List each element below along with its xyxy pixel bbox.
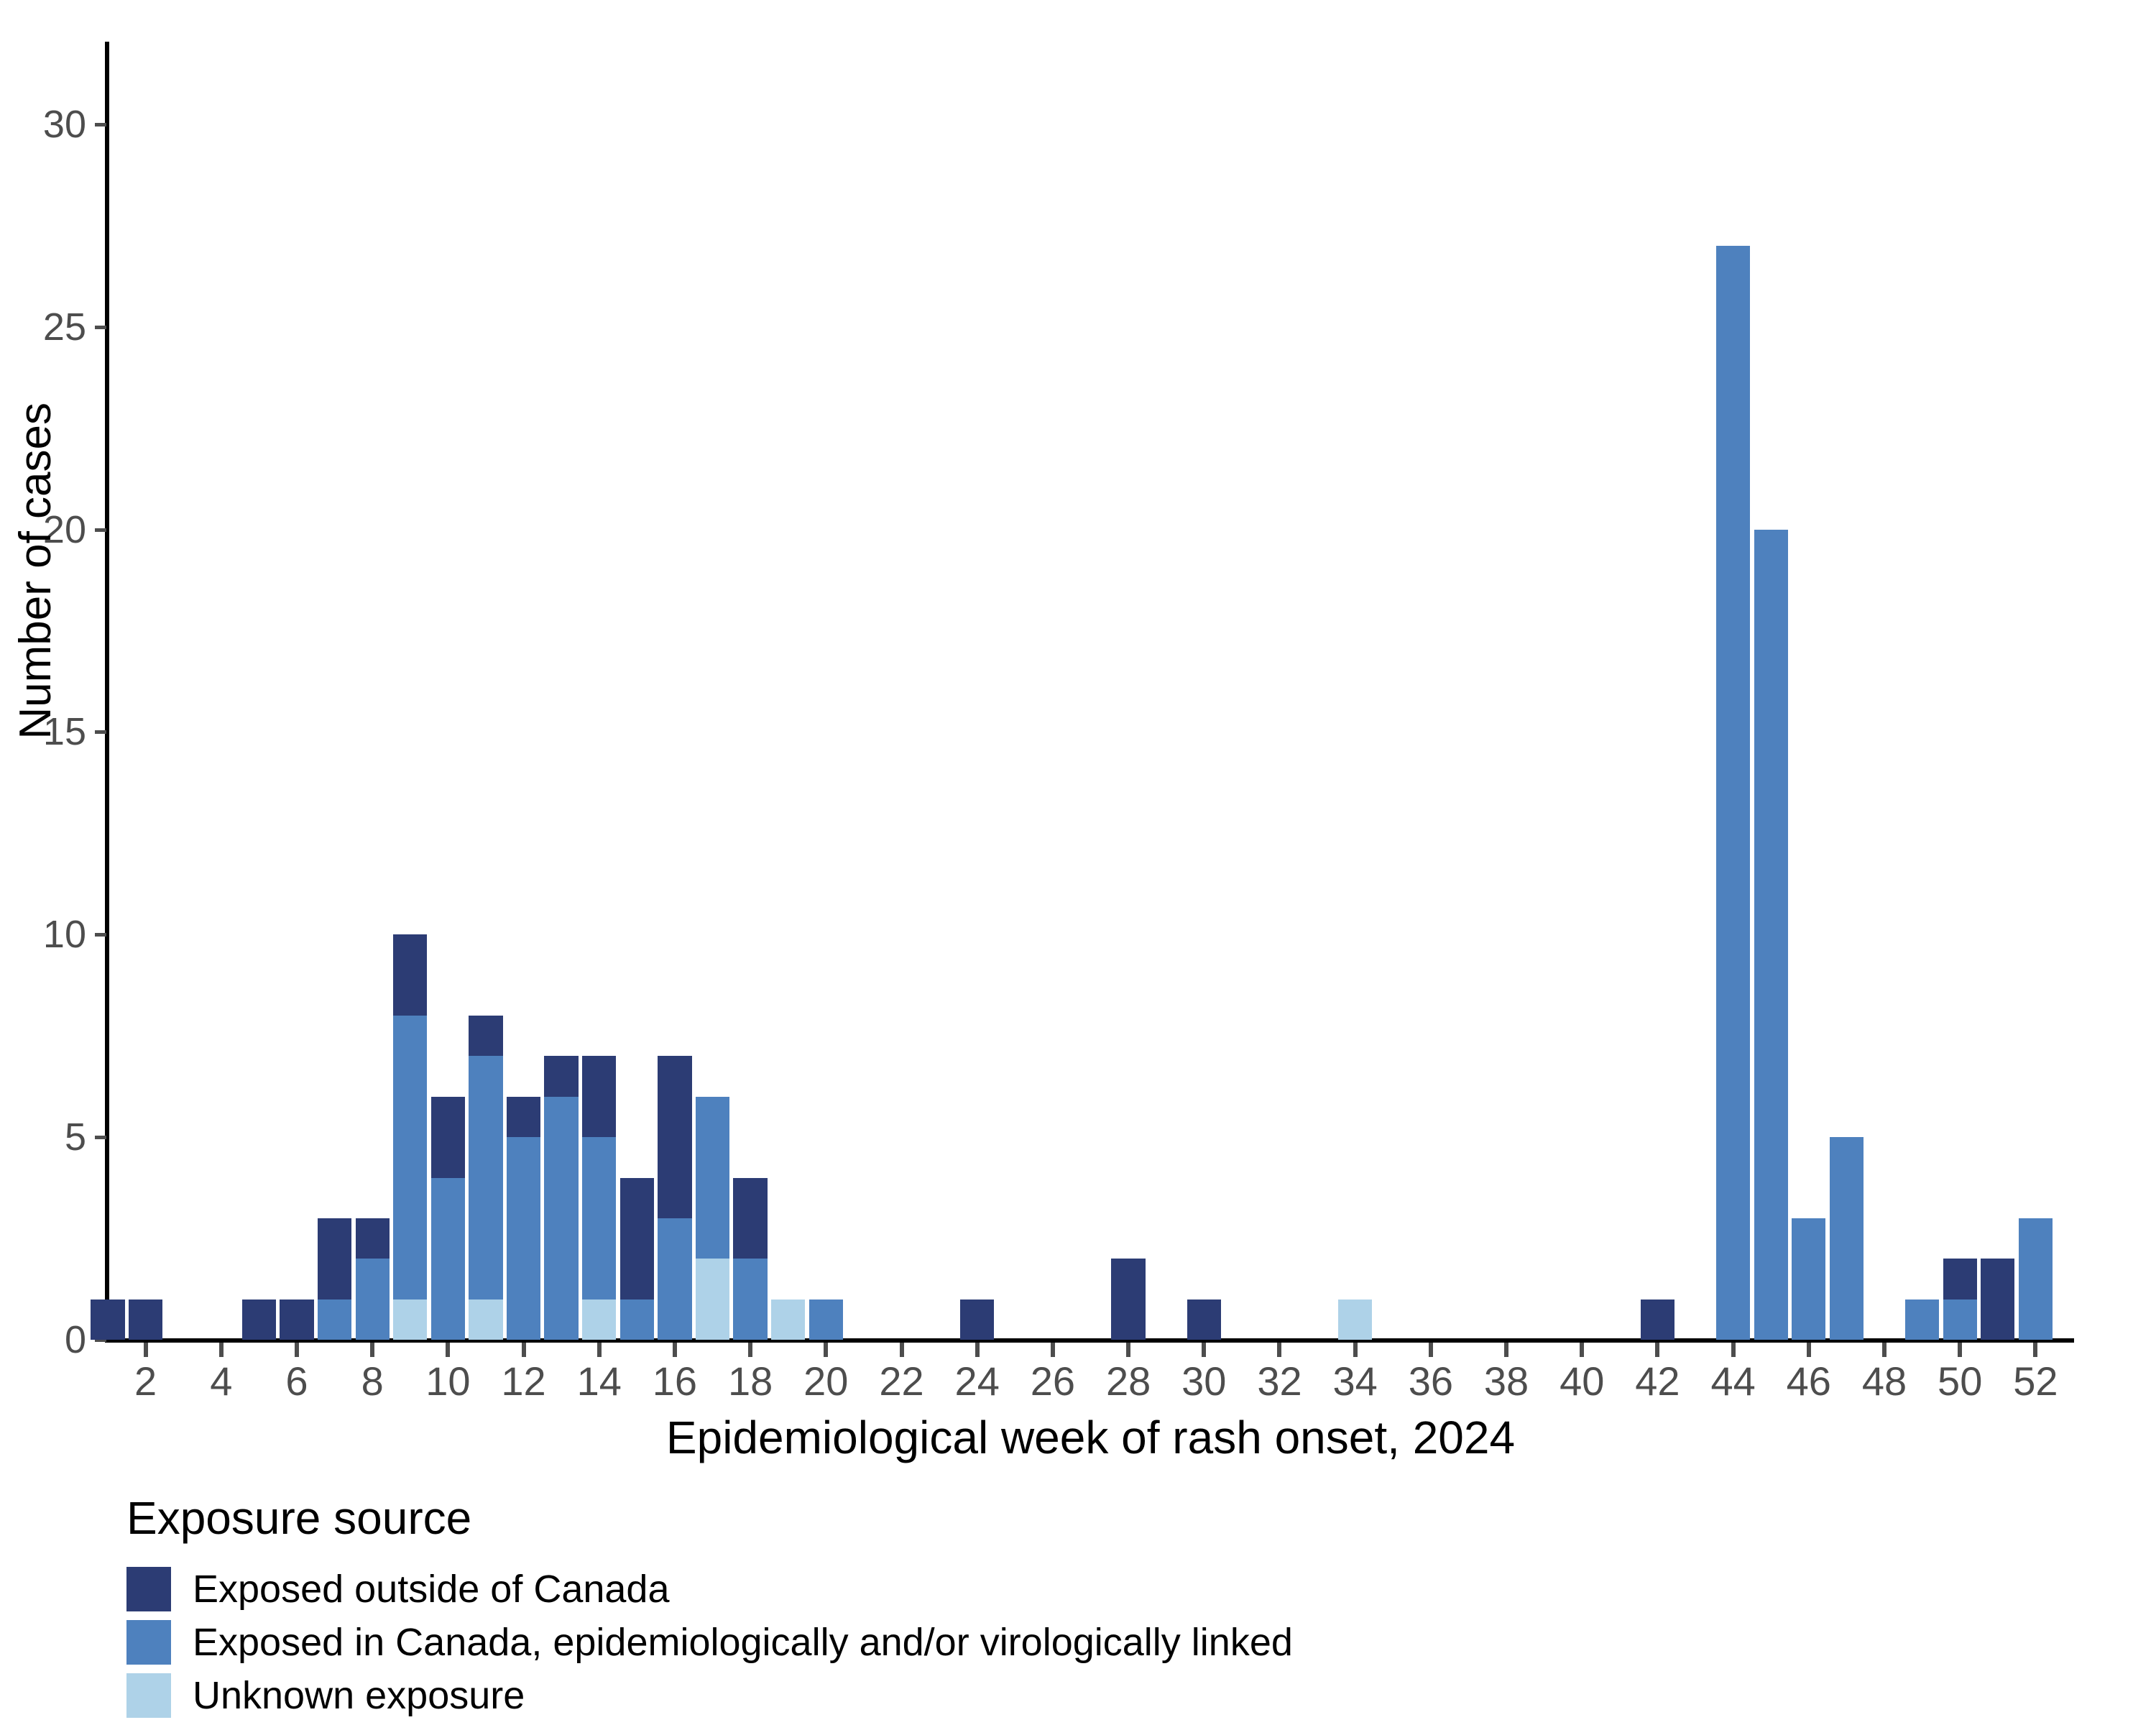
bar-segment: [280, 1299, 313, 1340]
x-tick-mark: [900, 1343, 904, 1357]
legend-item: Exposed outside of Canada: [126, 1563, 1851, 1616]
legend-color-swatch: [126, 1567, 171, 1611]
x-tick-mark: [1353, 1343, 1358, 1357]
bar-segment: [393, 1016, 427, 1299]
bar-segment: [1641, 1299, 1674, 1340]
legend-color-swatch: [126, 1673, 171, 1718]
bar-segment: [393, 1299, 427, 1340]
bar-segment: [809, 1299, 843, 1340]
x-tick-mark: [1958, 1343, 1962, 1357]
x-tick-mark: [975, 1343, 980, 1357]
bar-week-30: [1187, 1299, 1221, 1340]
x-tick-mark: [597, 1343, 602, 1357]
x-tick-mark: [522, 1343, 526, 1357]
bar-segment: [129, 1299, 162, 1340]
x-tick-mark: [144, 1343, 148, 1357]
bar-week-13: [544, 1056, 578, 1340]
bar-segment: [1716, 246, 1750, 1340]
bar-segment: [431, 1097, 465, 1178]
bar-segment: [1792, 1218, 1825, 1340]
bar-segment: [582, 1137, 616, 1299]
bar-segment: [507, 1097, 540, 1137]
bar-week-18: [733, 1178, 767, 1340]
x-tick-mark: [1429, 1343, 1433, 1357]
x-tick-mark: [673, 1343, 677, 1357]
legend-color-swatch: [126, 1620, 171, 1665]
legend: Exposure source Exposed outside of Canad…: [126, 1495, 1851, 1722]
bar-segment: [469, 1016, 502, 1056]
x-tick-mark: [1051, 1343, 1055, 1357]
bar-week-19: [771, 1299, 805, 1340]
legend-item: Unknown exposure: [126, 1669, 1851, 1722]
bar-segment: [658, 1218, 691, 1340]
bar-segment: [1338, 1299, 1372, 1340]
x-axis-title: Epidemiological week of rash onset, 2024: [108, 1414, 2073, 1460]
x-tick-mark: [446, 1343, 450, 1357]
bar-week-45: [1754, 530, 1788, 1340]
x-tick-mark: [370, 1343, 374, 1357]
bar-week-28: [1111, 1259, 1145, 1340]
x-tick-mark: [1580, 1343, 1584, 1357]
x-tick-mark: [824, 1343, 828, 1357]
bar-segment: [582, 1299, 616, 1340]
bar-segment: [91, 1299, 124, 1340]
bar-segment: [1943, 1259, 1977, 1299]
bar-segment: [356, 1259, 390, 1340]
bar-week-16: [658, 1056, 691, 1340]
bar-segment: [1981, 1259, 2014, 1340]
bar-week-6: [280, 1299, 313, 1340]
bar-week-20: [809, 1299, 843, 1340]
bar-segment: [620, 1299, 654, 1340]
legend-item-label: Exposed outside of Canada: [193, 1570, 669, 1609]
bar-week-51: [1981, 1259, 2014, 1340]
bar-segment: [1187, 1299, 1221, 1340]
bar-segment: [1830, 1137, 1864, 1340]
x-tick-mark: [1807, 1343, 1811, 1357]
bar-segment: [431, 1178, 465, 1340]
bar-week-17: [696, 1097, 729, 1340]
bar-week-50: [1943, 1259, 1977, 1340]
bar-segment: [2019, 1218, 2053, 1340]
y-axis-title: Number of cases: [14, 402, 58, 740]
bar-week-7: [318, 1218, 351, 1340]
x-tick-mark: [295, 1343, 299, 1357]
bar-week-11: [469, 1016, 502, 1340]
bar-week-46: [1792, 1218, 1825, 1340]
legend-item-label: Exposed in Canada, epidemiologically and…: [193, 1623, 1293, 1662]
legend-title: Exposure source: [126, 1495, 1851, 1541]
bar-segment: [960, 1299, 994, 1340]
bar-week-52: [2019, 1218, 2053, 1340]
bar-week-24: [960, 1299, 994, 1340]
x-tick-mark: [219, 1343, 224, 1357]
bar-segment: [356, 1218, 390, 1259]
bar-week-12: [507, 1097, 540, 1340]
bar-week-10: [431, 1097, 465, 1340]
bar-segment: [242, 1299, 276, 1340]
bar-segment: [544, 1097, 578, 1340]
bar-week-9: [393, 934, 427, 1340]
bar-segment: [318, 1218, 351, 1299]
bar-segment: [733, 1259, 767, 1340]
bar-week-5: [242, 1299, 276, 1340]
y-axis-title-holder: Number of cases: [14, 0, 65, 1344]
x-tick-mark: [1655, 1343, 1659, 1357]
bar-week-8: [356, 1218, 390, 1340]
legend-item: Exposed in Canada, epidemiologically and…: [126, 1616, 1851, 1669]
bar-segment: [658, 1056, 691, 1218]
x-tick-mark: [1277, 1343, 1281, 1357]
bar-week-14: [582, 1056, 616, 1340]
bar-segment: [393, 934, 427, 1016]
bar-week-49: [1905, 1299, 1939, 1340]
bar-segment: [507, 1137, 540, 1340]
bar-segment: [1754, 530, 1788, 1340]
legend-item-label: Unknown exposure: [193, 1676, 525, 1715]
bar-week-44: [1716, 246, 1750, 1340]
bar-segment: [620, 1178, 654, 1299]
bar-segment: [318, 1299, 351, 1340]
bar-segment: [469, 1056, 502, 1299]
x-tick-label: 52: [1985, 1361, 2086, 1402]
x-tick-mark: [1504, 1343, 1508, 1357]
legend-rows: Exposed outside of CanadaExposed in Cana…: [126, 1563, 1851, 1722]
x-tick-mark: [1882, 1343, 1886, 1357]
bar-week-2: [129, 1299, 162, 1340]
bar-segment: [696, 1259, 729, 1340]
bar-week-15: [620, 1178, 654, 1340]
bar-segment: [469, 1299, 502, 1340]
bar-segment: [1111, 1259, 1145, 1340]
bar-segment: [733, 1178, 767, 1259]
x-tick-mark: [2033, 1343, 2037, 1357]
x-tick-mark: [748, 1343, 752, 1357]
plot-area: [108, 43, 2073, 1340]
bar-segment: [1943, 1299, 1977, 1340]
bar-segment: [582, 1056, 616, 1137]
bar-segment: [1905, 1299, 1939, 1340]
bar-week-34: [1338, 1299, 1372, 1340]
bar-segment: [696, 1097, 729, 1259]
bar-week-42: [1641, 1299, 1674, 1340]
bar-segment: [771, 1299, 805, 1340]
epidemic-curve-figure: 051015202530 246810121416182022242628303…: [0, 0, 2156, 1725]
x-tick-mark: [1126, 1343, 1130, 1357]
x-tick-mark: [1731, 1343, 1736, 1357]
bar-week-47: [1830, 1137, 1864, 1340]
bar-segment: [544, 1056, 578, 1096]
x-tick-mark: [1202, 1343, 1206, 1357]
bar-week-1: [91, 1299, 124, 1340]
